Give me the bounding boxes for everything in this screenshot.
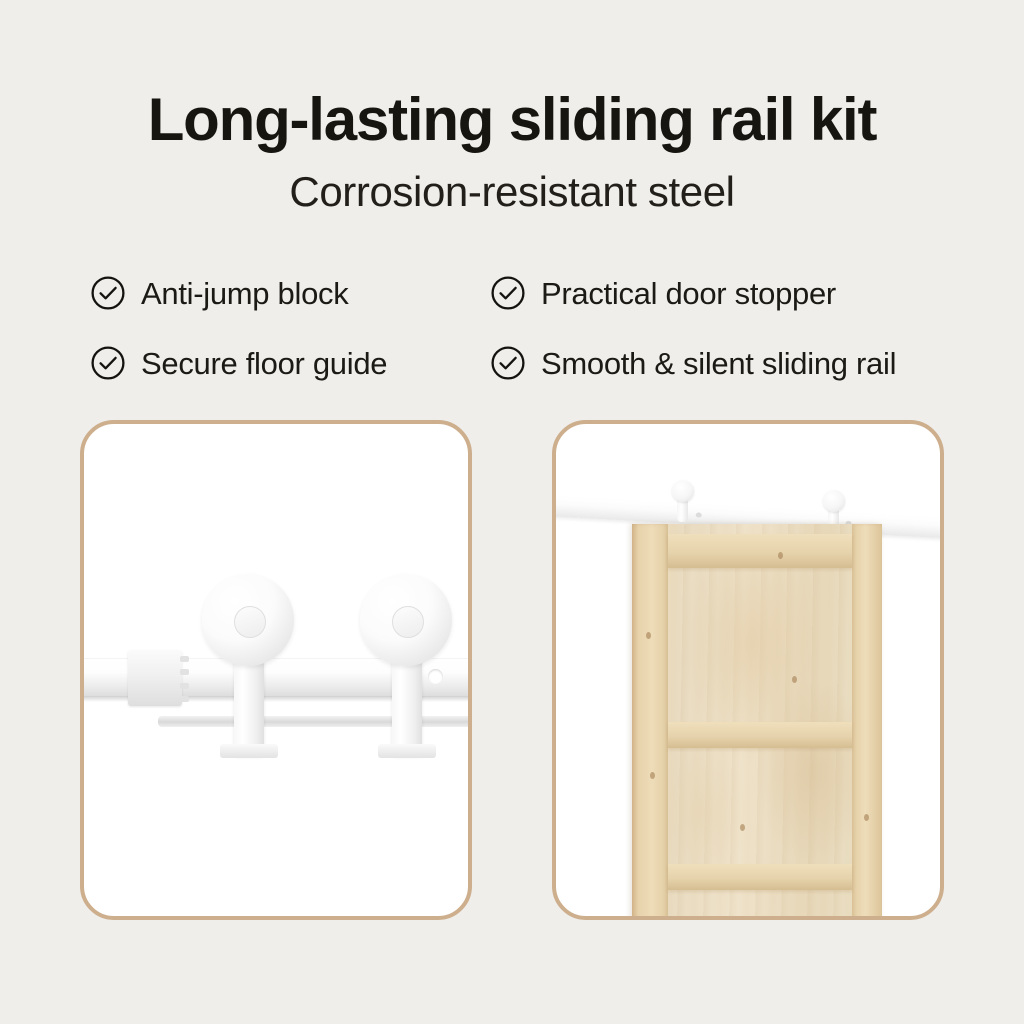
- door-cross-rail-top: [668, 534, 852, 568]
- roller-wheel: [823, 490, 845, 512]
- stopper-ridges: [180, 656, 189, 702]
- product-photo-panels: [0, 420, 1024, 925]
- barn-door-installed-photo: [552, 420, 944, 920]
- track-screw: [696, 512, 702, 517]
- roller-hub: [392, 606, 424, 638]
- wooden-barn-door: [632, 524, 882, 920]
- header: Long-lasting sliding rail kit Corrosion-…: [0, 0, 1024, 215]
- roller-wheel: [672, 480, 694, 502]
- check-circle-icon: [90, 275, 126, 311]
- wood-knot: [778, 552, 783, 559]
- check-circle-icon: [490, 345, 526, 381]
- rail-hardware-illustration: [84, 424, 468, 916]
- wood-knot: [792, 676, 797, 683]
- wood-knot: [740, 824, 745, 831]
- wood-knot: [650, 772, 655, 779]
- sliding-rail-hardware-photo: [80, 420, 472, 920]
- check-circle-icon: [90, 345, 126, 381]
- roller-hub: [234, 606, 266, 638]
- rail-mounting-hole: [428, 669, 443, 684]
- hanger-foot: [220, 744, 278, 758]
- feature-item-anti-jump-block: Anti-jump block: [90, 275, 490, 311]
- feature-label: Smooth & silent sliding rail: [541, 348, 896, 379]
- feature-label: Practical door stopper: [541, 278, 836, 309]
- page-title: Long-lasting sliding rail kit: [0, 88, 1024, 151]
- door-stile-right: [852, 524, 882, 920]
- feature-item-smooth-silent-sliding-rail: Smooth & silent sliding rail: [490, 345, 950, 381]
- anti-jump-stopper-block: [128, 650, 182, 706]
- page-subtitle: Corrosion-resistant steel: [0, 169, 1024, 215]
- feature-list: Anti-jump block Practical door stopper S…: [90, 258, 970, 398]
- barn-door-illustration: [556, 424, 940, 916]
- door-cross-rail-middle: [668, 722, 852, 748]
- wood-knot: [646, 632, 651, 639]
- hanger-foot: [378, 744, 436, 758]
- feature-label: Secure floor guide: [141, 348, 387, 379]
- wood-knot: [864, 814, 869, 821]
- door-cross-rail-bottom: [668, 864, 852, 890]
- feature-item-secure-floor-guide: Secure floor guide: [90, 345, 490, 381]
- check-circle-icon: [490, 275, 526, 311]
- door-stile-left: [632, 524, 668, 920]
- feature-item-practical-door-stopper: Practical door stopper: [490, 275, 950, 311]
- feature-label: Anti-jump block: [141, 278, 348, 309]
